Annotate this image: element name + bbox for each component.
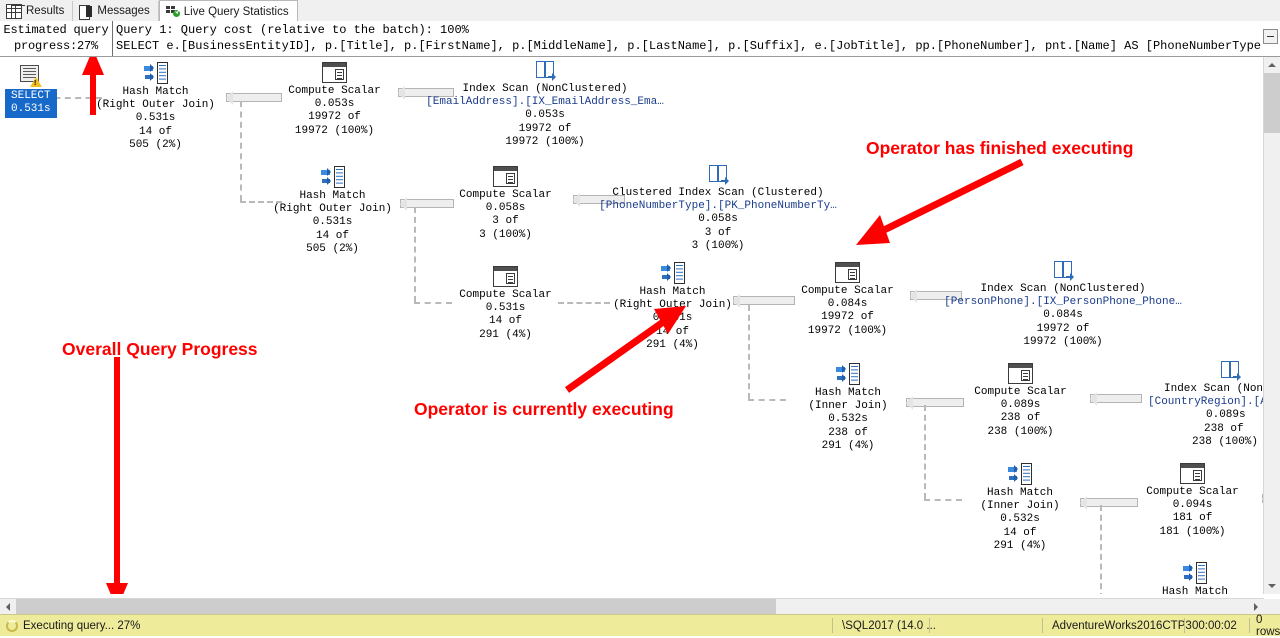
operator-title: Hash Match [88,86,223,99]
query-sql-line: SELECT e.[BusinessEntityID], p.[Title], … [116,38,1264,54]
horizontal-scrollbar-thumb[interactable] [16,599,776,615]
operator-duration: 0.084s [938,309,1188,322]
tab-messages-label: Messages [97,5,149,17]
operator-title: Clustered Index Scan (Clustered) [593,187,843,200]
operator-duration: 0.053s [272,98,397,111]
estimated-query-progress-line2: progress:27% [14,39,98,53]
operator-duration: 0.531s [265,216,400,229]
operator-node-hash-match-4[interactable]: Hash Match (Inner Join) 0.532s 238 of 29… [783,363,913,453]
compute-scalar-icon [1008,363,1033,384]
operator-title: Hash Match [265,190,400,203]
status-elapsed-segment: 00:00:02 [1192,615,1237,636]
compute-scalar-icon [493,166,518,187]
operator-subtitle: (Inner Join) [955,500,1085,513]
operator-duration: 0.089s [958,399,1083,412]
operator-rows-actual: 238 of [958,412,1083,425]
operator-title: Hash Match [605,286,740,299]
select-node[interactable]: SELECT 0.531s [5,65,55,118]
operator-rows-estimated: 19972 (100%) [938,336,1188,349]
operator-title: Compute Scalar [272,85,397,98]
message-icon [79,5,93,18]
operator-node-hash-match-5[interactable]: Hash Match (Inner Join) 0.532s 14 of 291… [955,463,1085,553]
operator-title: Hash Match [783,387,913,400]
operator-node-compute-scalar-2[interactable]: Compute Scalar 0.058s 3 of 3 (100%) [443,166,568,242]
operator-object: [PersonPhone].[IX_PersonPhone_Phone… [938,296,1188,309]
connector-vert-hashmatch4 [924,405,926,499]
operator-subtitle: (Inner Join) [783,400,913,413]
select-result-icon [18,65,42,87]
estimated-query-progress-line1: Estimated query [3,23,108,37]
spinner-icon [6,620,18,632]
operator-node-compute-scalar-6[interactable]: Compute Scalar 0.094s 181 of 181 (100%) [1130,463,1255,539]
operator-rows-actual: 19972 of [938,323,1188,336]
grid-icon [6,4,22,19]
live-query-statistics-icon [166,5,180,18]
connector-hashmatch4-computescalar5 [906,398,964,407]
status-server-segment: \SQL2017 (14.0 ... [842,615,936,636]
operator-title: Hash Match [955,487,1085,500]
connector-vert-hashmatch2 [414,207,416,302]
status-separator-5 [1249,618,1250,633]
select-badge-label: SELECT [11,90,51,102]
hash-match-icon [836,363,860,385]
connector-vert-hashmatch3 [748,305,750,399]
status-separator-4 [1184,618,1185,633]
status-separator-1 [832,618,833,633]
operator-rows-actual: 3 of [593,227,843,240]
operator-title: Compute Scalar [785,285,910,298]
index-scan-icon [1051,259,1075,281]
execution-plan-canvas[interactable]: SELECT 0.531s Hash Match (Right Outer Jo… [0,57,1264,594]
results-pane-tabstrip: Results Messages Live Query Statistics [0,0,1280,22]
operator-duration: 0.084s [785,298,910,311]
compute-scalar-icon [835,262,860,283]
index-scan-icon [706,163,730,185]
operator-title: Hash Match [1130,586,1260,594]
select-badge-cost: 0.531s [11,103,51,115]
operator-node-compute-scalar-1[interactable]: Compute Scalar 0.053s 19972 of 19972 (10… [272,62,397,138]
operator-node-index-scan-countryregion[interactable]: Index Scan (NonClu [CountryRegion].[AK_C… [1108,359,1264,449]
status-bar: Executing query... 27% \SQL2017 (14.0 ..… [0,614,1280,636]
operator-rows-actual: 14 of [955,527,1085,540]
operator-title: Index Scan (NonClustered) [420,83,670,96]
tab-messages[interactable]: Messages [73,1,158,21]
operator-duration: 0.094s [1130,499,1255,512]
operator-object: [PhoneNumberType].[PK_PhoneNumberTy… [593,200,843,213]
index-scan-icon [533,59,557,81]
operator-rows-actual: 181 of [1130,512,1255,525]
status-rows: 0 rows [1256,614,1280,638]
operator-rows-actual: 19972 of [785,311,910,324]
horizontal-scrollbar[interactable] [0,598,1264,615]
operator-node-hash-match-1[interactable]: Hash Match (Right Outer Join) 0.531s 14 … [88,62,223,152]
scroll-left-button[interactable] [0,599,16,615]
operator-title: Compute Scalar [443,189,568,202]
operator-rows-estimated: 238 (100%) [958,426,1083,439]
operator-rows-estimated: 3 (100%) [593,240,843,253]
operator-rows-estimated: 505 (2%) [88,139,223,152]
estimated-query-progress-cell: Estimated query progress:27% [0,21,113,56]
operator-rows-estimated: 291 (4%) [955,540,1085,553]
hash-match-icon [1008,463,1032,485]
vertical-scrollbar-thumb[interactable] [1264,73,1280,133]
collapse-header-button[interactable] [1263,29,1278,44]
operator-duration: 0.058s [443,202,568,215]
connector-hashmatch3-hashmatch4 [748,399,786,401]
status-execution-text: Executing query... 27% [23,620,140,632]
operator-rows-actual: 19972 of [272,111,397,124]
annotation-operator-finished: Operator has finished executing [866,138,1133,159]
status-rows-segment: 0 rows [1256,615,1280,636]
operator-rows-actual: 14 of [88,126,223,139]
hash-match-icon [661,262,685,284]
status-elapsed: 00:00:02 [1192,620,1237,632]
operator-rows-estimated: 291 (4%) [783,440,913,453]
annotation-overall-query-progress: Overall Query Progress [62,339,258,360]
operator-rows-actual: 14 of [265,230,400,243]
operator-rows-estimated: 181 (100%) [1130,526,1255,539]
operator-object: [EmailAddress].[IX_EmailAddress_Ema… [420,96,670,109]
operator-node-hash-match-3[interactable]: Hash Match (Right Outer Join) 0.531s 14 … [605,262,740,352]
operator-rows-estimated: 3 (100%) [443,229,568,242]
operator-rows-actual: 238 of [783,427,913,440]
tab-results[interactable]: Results [0,1,73,21]
operator-rows-estimated: 505 (2%) [265,243,400,256]
index-scan-icon [1218,359,1242,381]
hash-match-icon [321,166,345,188]
operator-node-hash-match-6[interactable]: Hash Match [1130,562,1260,594]
operator-node-compute-scalar-4[interactable]: Compute Scalar 0.084s 19972 of 19972 (10… [785,262,910,338]
operator-node-compute-scalar-3[interactable]: Compute Scalar 0.531s 14 of 291 (4%) [443,266,568,342]
operator-node-clustered-index-scan-phonenumbertype[interactable]: Clustered Index Scan (Clustered) [PhoneN… [593,163,843,253]
operator-rows-estimated: 19972 (100%) [272,125,397,138]
connector-vert-hashmatch5 [1100,505,1102,594]
scroll-up-button[interactable] [1264,57,1280,73]
vertical-scrollbar[interactable] [1263,57,1280,594]
operator-duration: 0.531s [605,312,740,325]
query-cost-and-sql-text: Query 1: Query cost (relative to the bat… [114,21,1264,57]
operator-duration: 0.532s [783,413,913,426]
operator-node-index-scan-personphone[interactable]: Index Scan (NonClustered) [PersonPhone].… [938,259,1188,349]
operator-node-compute-scalar-5[interactable]: Compute Scalar 0.089s 238 of 238 (100%) [958,363,1083,439]
status-execution-segment: Executing query... 27% [6,615,140,636]
operator-duration: 0.089s [1206,409,1264,422]
status-database: AdventureWorks2016CTP3 [1052,620,1192,632]
compute-scalar-icon [1180,463,1205,484]
operator-object: [CountryRegion].[AK_Cou [1148,396,1264,409]
hash-match-icon [144,62,168,84]
arrow-operator-finished [856,162,1022,245]
tab-live-query-statistics[interactable]: Live Query Statistics [159,0,298,22]
compute-scalar-icon [493,266,518,287]
operator-rows-estimated: 291 (4%) [605,339,740,352]
operator-title: Compute Scalar [1130,486,1255,499]
operator-rows-actual: 3 of [443,215,568,228]
operator-subtitle: (Right Outer Join) [88,99,223,112]
operator-rows-estimated: 19972 (100%) [420,136,670,149]
operator-duration: 0.053s [420,109,670,122]
operator-subtitle: (Right Outer Join) [605,299,740,312]
operator-node-index-scan-emailaddress[interactable]: Index Scan (NonClustered) [EmailAddress]… [420,59,670,149]
status-database-segment: AdventureWorks2016CTP3 [1052,615,1192,636]
compute-scalar-icon [322,62,347,83]
tab-results-label: Results [26,5,64,17]
query-plan-header: Estimated query progress:27% Query 1: Qu… [0,21,1280,57]
operator-node-hash-match-2[interactable]: Hash Match (Right Outer Join) 0.531s 14 … [265,166,400,256]
hash-match-icon [1183,562,1207,584]
operator-rows-estimated: 291 (4%) [443,329,568,342]
operator-rows-actual: 14 of [443,315,568,328]
operator-duration: 0.531s [88,112,223,125]
status-separator-2 [929,618,930,633]
operator-rows-actual: 19972 of [420,123,670,136]
operator-rows-actual: 238 of [1204,423,1264,436]
status-separator-3 [1042,618,1043,633]
scroll-down-button[interactable] [1264,578,1280,594]
operator-title: Index Scan (NonClu [1164,383,1264,396]
operator-rows-estimated: 238 (100%) [1192,436,1264,449]
operator-duration: 0.532s [955,513,1085,526]
select-badge: SELECT 0.531s [5,89,57,118]
operator-duration: 0.531s [443,302,568,315]
operator-subtitle: (Right Outer Join) [265,203,400,216]
operator-title: Compute Scalar [443,289,568,302]
operator-title: Compute Scalar [958,386,1083,399]
operator-title: Index Scan (NonClustered) [938,283,1188,296]
connector-vert-hashmatch1 [240,101,242,201]
tab-live-query-statistics-label: Live Query Statistics [184,6,289,18]
operator-rows-estimated: 19972 (100%) [785,325,910,338]
status-server: \SQL2017 (14.0 ... [842,620,936,632]
operator-duration: 0.058s [593,213,843,226]
arrow-overall-query-progress-down [106,357,128,594]
annotation-operator-executing: Operator is currently executing [414,399,674,420]
operator-rows-actual: 14 of [605,326,740,339]
query-cost-line: Query 1: Query cost (relative to the bat… [116,22,1264,38]
